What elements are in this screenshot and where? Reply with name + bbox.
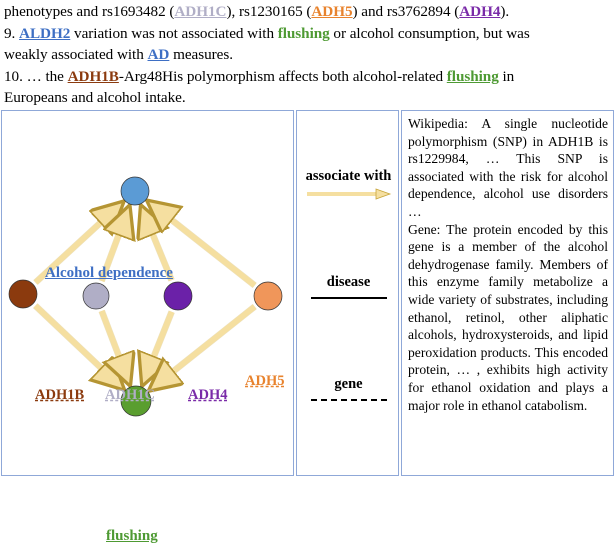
entity-graph-panel: Alcohol dependence ADH1B ADH1C ADH4 ADH5… [1, 110, 294, 476]
legend-associate-label: associate with [297, 168, 400, 185]
figure-panels: Alcohol dependence ADH1B ADH1C ADH4 ADH5… [1, 110, 614, 476]
entity-graph [2, 111, 293, 475]
node-label-flushing: flushing [106, 528, 158, 545]
node-label-alcohol-dependence: Alcohol dependence [45, 265, 173, 282]
node-label-adh1c: ADH1C [105, 387, 155, 404]
entity-adh5: ADH5 [311, 3, 352, 20]
knowledge-text: Wikipedia: A single nucleotide polymorph… [408, 115, 608, 414]
text-line-2: 9. ALDH2 variation was not associated wi… [4, 23, 612, 45]
entity-flushing: flushing [447, 68, 499, 85]
legend-disease-label: disease [297, 274, 400, 291]
legend-panel: associate with disease gene [296, 110, 399, 476]
legend-gene-rule [311, 399, 387, 401]
graph-node-alcohol-dependence[interactable] [121, 177, 149, 205]
graph-node-adh4[interactable] [164, 282, 192, 310]
text-line-3: weakly associated with AD measures. [4, 44, 612, 66]
graph-edge-layer [35, 203, 254, 389]
knowledge-text-panel: Wikipedia: A single nucleotide polymorph… [401, 110, 614, 476]
text-line-1: phenotypes and rs1693482 (ADH1C), rs1230… [4, 1, 612, 23]
entity-ad: AD [148, 46, 170, 63]
entity-adh4: ADH4 [459, 3, 500, 20]
node-label-adh1b: ADH1B [35, 387, 84, 404]
graph-node-adh1c[interactable] [83, 283, 109, 309]
entity-flushing-plain: flushing [278, 25, 330, 42]
graph-node-adh5[interactable] [254, 282, 282, 310]
entity-adh1b: ADH1B [68, 68, 119, 85]
node-label-adh5: ADH5 [245, 373, 284, 390]
text-line-4: 10. … the ADH1B-Arg48His polymorphism af… [4, 66, 612, 88]
legend-gene-label: gene [297, 376, 400, 393]
text-line-5: Europeans and alcohol intake. [4, 87, 612, 109]
node-label-adh4: ADH4 [188, 387, 227, 404]
wiki-paragraph-1: Wikipedia: A single nucleotide polymorph… [408, 115, 608, 221]
graph-edge [35, 306, 121, 388]
source-text-block: phenotypes and rs1693482 (ADH1C), rs1230… [0, 0, 616, 108]
entity-aldh2: ALDH2 [19, 25, 70, 42]
wiki-paragraph-2: Gene: The protein encoded by this gene i… [408, 221, 608, 415]
entity-adh1c: ADH1C [174, 3, 226, 20]
legend-associate-arrow-icon [306, 188, 392, 200]
graph-node-adh1b[interactable] [9, 280, 37, 308]
legend-disease-rule [311, 297, 387, 299]
